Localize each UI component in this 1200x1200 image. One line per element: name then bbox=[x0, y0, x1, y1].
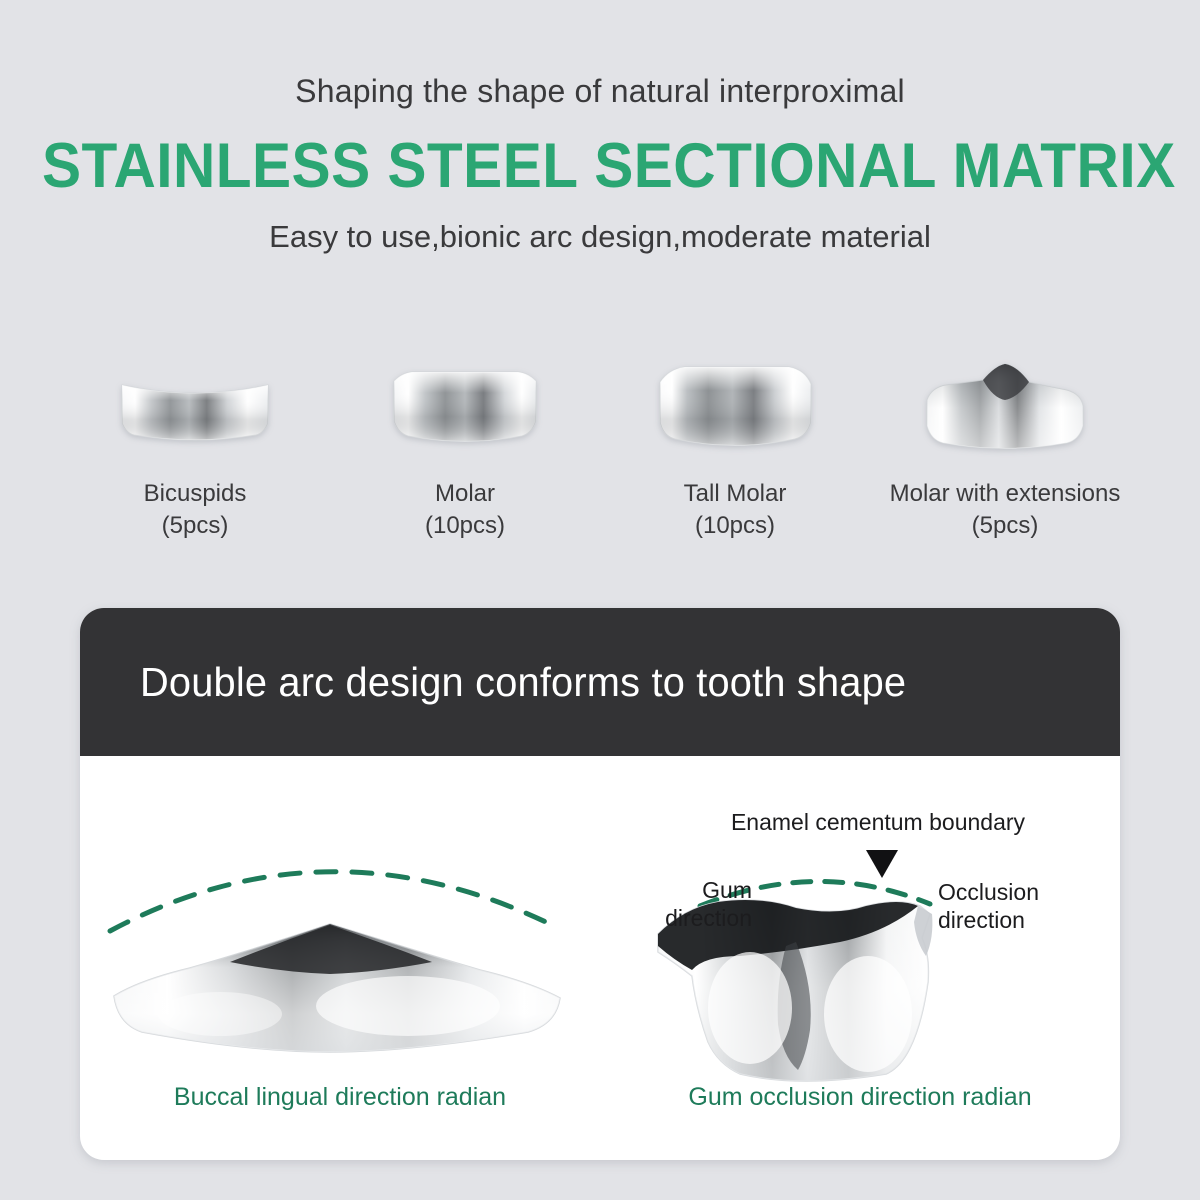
card-body: Buccal lingual direction radian bbox=[80, 756, 1120, 1160]
feature-card: Double arc design conforms to tooth shap… bbox=[80, 608, 1120, 1160]
chevron-down-icon bbox=[866, 848, 898, 878]
figure-caption: Buccal lingual direction radian bbox=[80, 1082, 600, 1112]
figure-buccal-lingual: Buccal lingual direction radian bbox=[80, 756, 600, 1160]
product-label: Molar with extensions bbox=[890, 478, 1121, 510]
matrix-band-bicuspid-icon bbox=[116, 352, 274, 464]
page-title: STAINLESS STEEL SECTIONAL MATRIX bbox=[42, 135, 1158, 198]
annotation-gum-direction: Gum direction bbox=[612, 876, 752, 932]
product-item-molar: Molar (10pcs) bbox=[330, 352, 600, 543]
matrix-band-molar-icon bbox=[390, 352, 540, 464]
annotation-occlusion-direction: Occlusion direction bbox=[938, 878, 1088, 934]
product-item-molar-extensions: Molar with extensions (5pcs) bbox=[870, 352, 1140, 543]
card-banner-title: Double arc design conforms to tooth shap… bbox=[140, 659, 906, 706]
product-quantity: (10pcs) bbox=[425, 510, 505, 542]
annotation-gum-line2: direction bbox=[612, 904, 752, 932]
product-quantity: (10pcs) bbox=[695, 510, 775, 542]
subtitle-text: Easy to use,bionic arc design,moderate m… bbox=[0, 220, 1200, 254]
eyebrow-text: Shaping the shape of natural interproxim… bbox=[0, 74, 1200, 109]
product-item-bicuspids: Bicuspids (5pcs) bbox=[60, 352, 330, 543]
product-variants-row: Bicuspids (5pcs) bbox=[60, 352, 1140, 543]
product-label: Tall Molar bbox=[684, 478, 787, 510]
figure-gum-occlusion: Enamel cementum boundary Gum direction O… bbox=[600, 756, 1120, 1160]
card-banner: Double arc design conforms to tooth shap… bbox=[80, 608, 1120, 756]
product-label: Bicuspids bbox=[144, 478, 247, 510]
matrix-band-side-view bbox=[114, 924, 560, 1052]
annotation-gum-line1: Gum bbox=[612, 876, 752, 904]
product-label: Molar bbox=[435, 478, 495, 510]
product-quantity: (5pcs) bbox=[162, 510, 229, 542]
annotation-enamel-boundary: Enamel cementum boundary bbox=[731, 808, 1025, 836]
arc-dashed-line bbox=[110, 872, 550, 931]
annotation-occlusion-line1: Occlusion bbox=[938, 878, 1088, 906]
product-item-tall-molar: Tall Molar (10pcs) bbox=[600, 352, 870, 543]
page-header: Shaping the shape of natural interproxim… bbox=[0, 0, 1200, 254]
annotation-occlusion-line2: direction bbox=[938, 906, 1088, 934]
matrix-band-tall-molar-icon bbox=[655, 352, 815, 464]
matrix-band-extensions-icon bbox=[921, 352, 1089, 464]
figure-caption: Gum occlusion direction radian bbox=[600, 1082, 1120, 1112]
product-quantity: (5pcs) bbox=[972, 510, 1039, 542]
